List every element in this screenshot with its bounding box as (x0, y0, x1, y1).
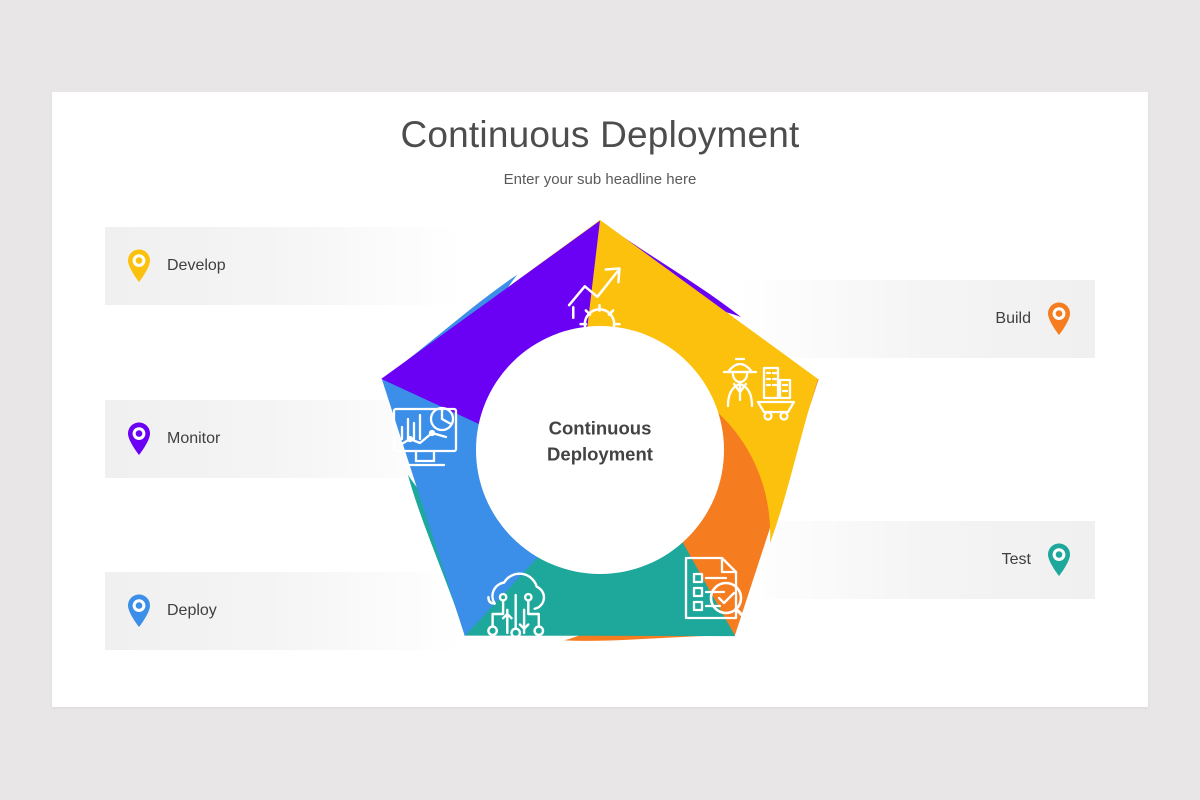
step-label-text: Test (1002, 551, 1031, 569)
step-label-text: Build (995, 310, 1031, 328)
step-label-text: Deploy (167, 602, 217, 620)
map-pin-icon (125, 593, 153, 629)
page-subtitle: Enter your sub headline here (52, 171, 1148, 188)
map-pin-icon (1045, 301, 1073, 337)
map-pin-icon (125, 248, 153, 284)
step-label-text: Develop (167, 257, 226, 275)
page-title: Continuous Deployment (52, 114, 1148, 156)
center-disc (476, 326, 724, 574)
pinwheel-diagram: Continuous Deployment (358, 204, 842, 679)
step-label-text: Monitor (167, 430, 220, 448)
map-pin-icon (125, 421, 153, 457)
map-pin-icon (1045, 542, 1073, 578)
slide-canvas: Continuous Deployment Enter your sub hea… (52, 92, 1148, 707)
